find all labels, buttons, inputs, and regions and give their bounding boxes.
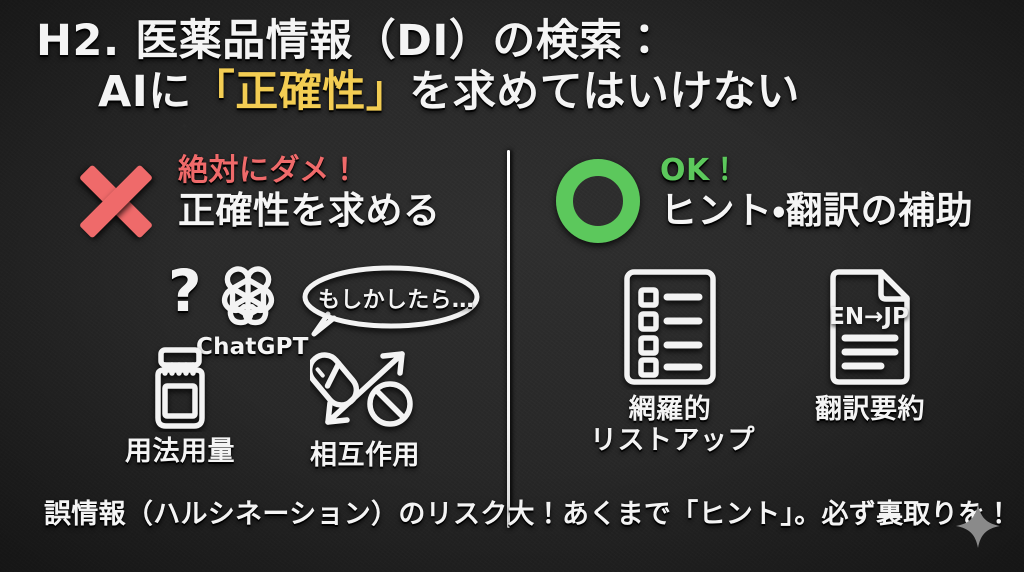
drug-interaction-label: 相互作用 [290, 440, 440, 471]
title-line-2: AIに「正確性」を求めてはいけない [36, 67, 996, 118]
openai-logo-icon [212, 262, 284, 338]
checklist-label-line1: 網羅的 [590, 394, 750, 425]
sparkle-star-icon [955, 503, 1001, 553]
checklist-icon [619, 266, 721, 390]
question-mark-icon: ? [168, 262, 202, 320]
circle-mark-icon [556, 159, 640, 243]
checklist-label-line2: リストアップ [590, 425, 750, 456]
medicine-bottle-icon [134, 346, 226, 432]
checklist-block: 網羅的 リストアップ [590, 266, 750, 457]
left-kicker: 絶対にダメ！ [178, 156, 441, 187]
left-heading: 正確性を求める [178, 189, 441, 233]
left-header-texts: 絶対にダメ！ 正確性を求める [178, 156, 441, 232]
translation-document-block: EN→JP 翻訳要約 [790, 266, 950, 425]
left-footer-note: 誤情報（ハルシネーション）のリスク大！ [44, 492, 562, 531]
slide-canvas: H2. 医薬品情報（DI）の検索：AIに「正確性」を求めてはいけない 絶対にダメ… [0, 0, 1024, 572]
speech-bubble-text: もしかしたら… [318, 282, 468, 314]
drug-interaction-icon [310, 340, 420, 436]
title-line-2-pre: AIに [98, 67, 192, 117]
medicine-bottle-label: 用法用量 [110, 436, 250, 467]
right-footer-note: あくまで「ヒント」。必ず裏取りを！ [562, 492, 1013, 531]
page-title: H2. 医薬品情報（DI）の検索：AIに「正確性」を求めてはいけない [36, 16, 996, 117]
title-line-1: H2. 医薬品情報（DI）の検索： [36, 16, 666, 66]
title-highlight: 「正確性」 [192, 67, 410, 117]
translation-doc-text: EN→JP [829, 304, 909, 330]
right-heading: ヒント・翻訳の補助 [660, 189, 973, 233]
x-mark-icon [74, 160, 158, 242]
title-line-2-post: を求めてはいけない [409, 67, 800, 117]
drug-interaction-block: 相互作用 [290, 340, 440, 471]
translation-document-label: 翻訳要約 [790, 394, 950, 425]
column-divider [507, 150, 510, 528]
medicine-bottle-block: 用法用量 [110, 346, 250, 467]
translation-document-icon: EN→JP [819, 266, 921, 390]
right-header-texts: OK！ ヒント・翻訳の補助 [660, 156, 973, 232]
right-kicker: OK！ [660, 156, 973, 187]
